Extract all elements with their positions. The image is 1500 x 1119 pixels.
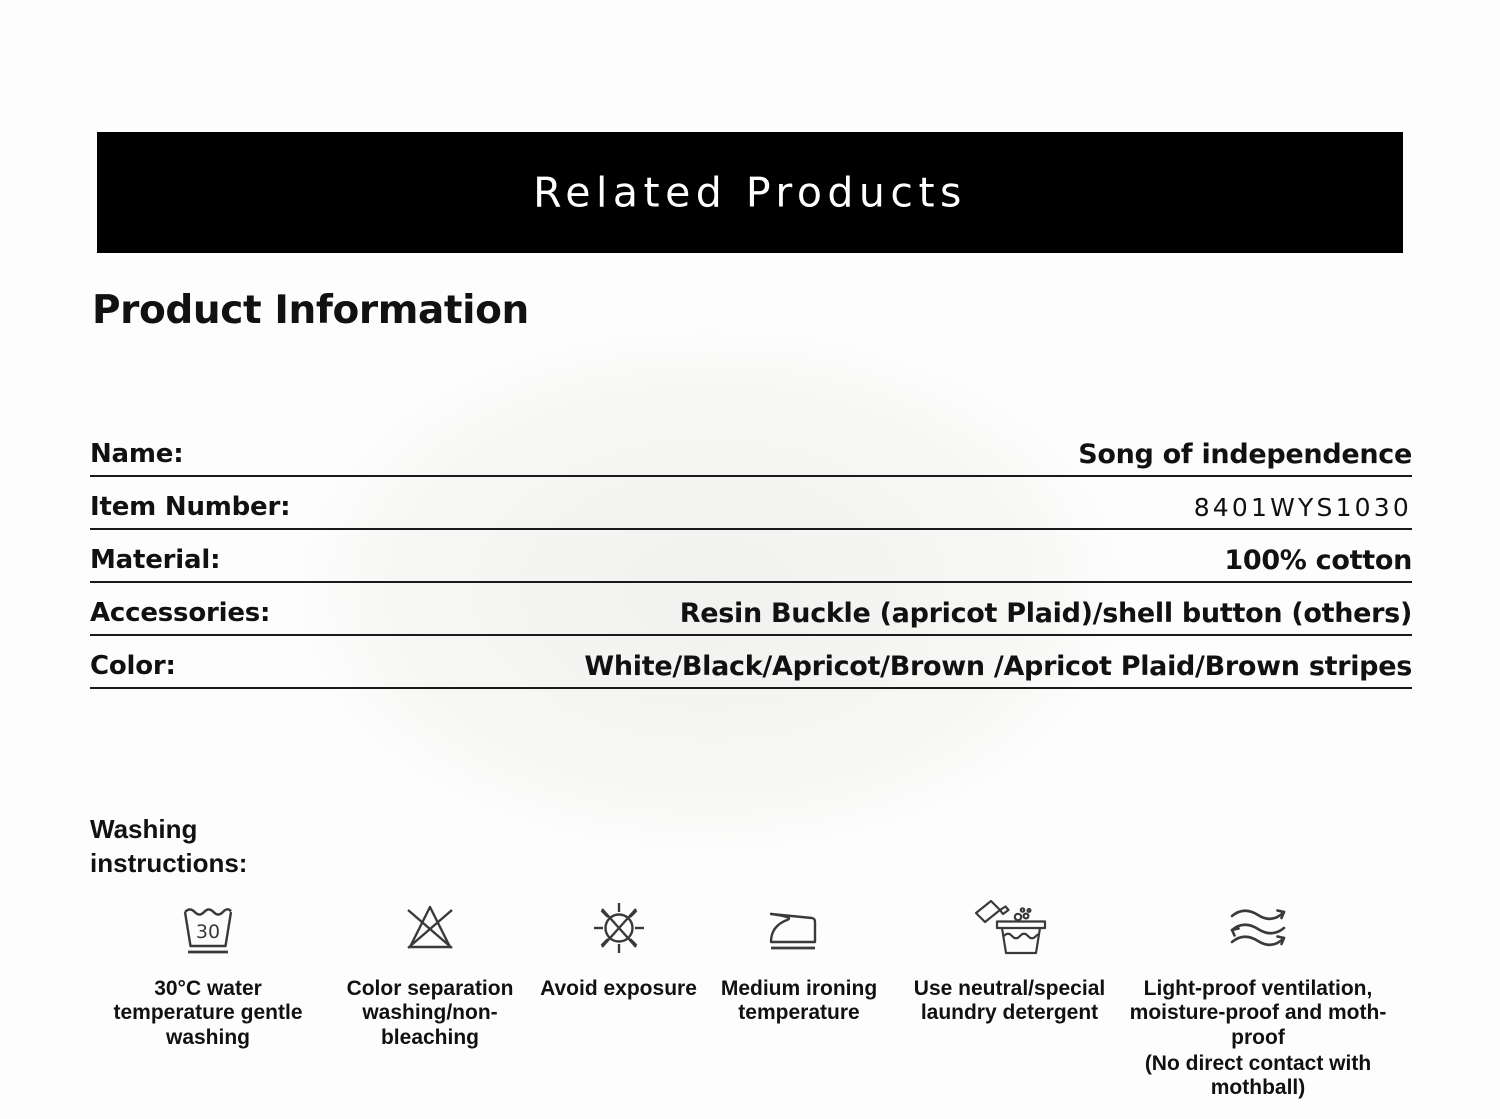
care-caption: Color separation washing/non-bleaching [328, 977, 532, 1050]
care-caption: 30°C water temperature gentle washing [96, 977, 320, 1050]
table-row: Material: 100% cotton [90, 530, 1412, 583]
row-label-accessories: Accessories: [90, 599, 294, 629]
row-value-name: Song of independence [207, 439, 1412, 470]
care-caption: Use neutral/special laundry detergent [901, 977, 1118, 1026]
do-not-bleach-triangle-icon [399, 897, 461, 959]
care-item: Avoid exposure [536, 897, 701, 1001]
care-item: 30 30°C water temperature gentle washing [92, 897, 324, 1050]
row-label-name: Name: [90, 440, 207, 470]
table-row: Item Number: 8401WYS1030 [90, 477, 1412, 530]
row-label-color: Color: [90, 652, 200, 682]
table-row: Color: White/Black/Apricot/Brown /Aprico… [90, 636, 1412, 689]
row-value-accessories: Resin Buckle (apricot Plaid)/shell butto… [294, 598, 1412, 629]
washing-instructions-section: Washing instructions: [90, 812, 1412, 881]
svg-text:30: 30 [196, 921, 220, 943]
row-label-item-number: Item Number: [90, 493, 314, 523]
no-sun-exposure-icon [588, 897, 650, 959]
row-value-item-number: 8401WYS1030 [314, 494, 1412, 523]
row-value-color: White/Black/Apricot/Brown /Apricot Plaid… [200, 651, 1412, 682]
care-item: Use neutral/special laundry detergent [897, 897, 1122, 1026]
detergent-basin-icon [971, 897, 1049, 959]
product-information-page: Related Products Product Information Nam… [0, 0, 1500, 1119]
care-item: Light-proof ventilation, moisture-proof … [1122, 897, 1394, 1101]
washing-instructions-label: Washing instructions: [90, 812, 320, 881]
page-title: Product Information [92, 288, 529, 333]
banner-title: Related Products [97, 172, 1403, 213]
wash-tub-30-gentle-icon: 30 [177, 897, 239, 959]
care-caption-extra: (No direct contact with mothball) [1126, 1052, 1390, 1101]
care-item: Color separation washing/non-bleaching [324, 897, 536, 1050]
product-information-table: Name: Song of independence Item Number: … [90, 424, 1412, 689]
iron-medium-temperature-icon [765, 897, 833, 959]
care-symbols-row: 30 30°C water temperature gentle washing… [92, 897, 1414, 1101]
row-value-material: 100% cotton [244, 545, 1412, 576]
care-item: Medium ironing temperature [701, 897, 897, 1026]
ventilation-waves-icon [1220, 897, 1296, 959]
table-row: Name: Song of independence [90, 424, 1412, 477]
care-caption: Avoid exposure [540, 977, 697, 1001]
care-caption: Medium ironing temperature [705, 977, 893, 1026]
table-row: Accessories: Resin Buckle (apricot Plaid… [90, 583, 1412, 636]
related-products-banner: Related Products [97, 132, 1403, 253]
care-caption: Light-proof ventilation, moisture-proof … [1126, 977, 1390, 1050]
row-label-material: Material: [90, 546, 244, 576]
